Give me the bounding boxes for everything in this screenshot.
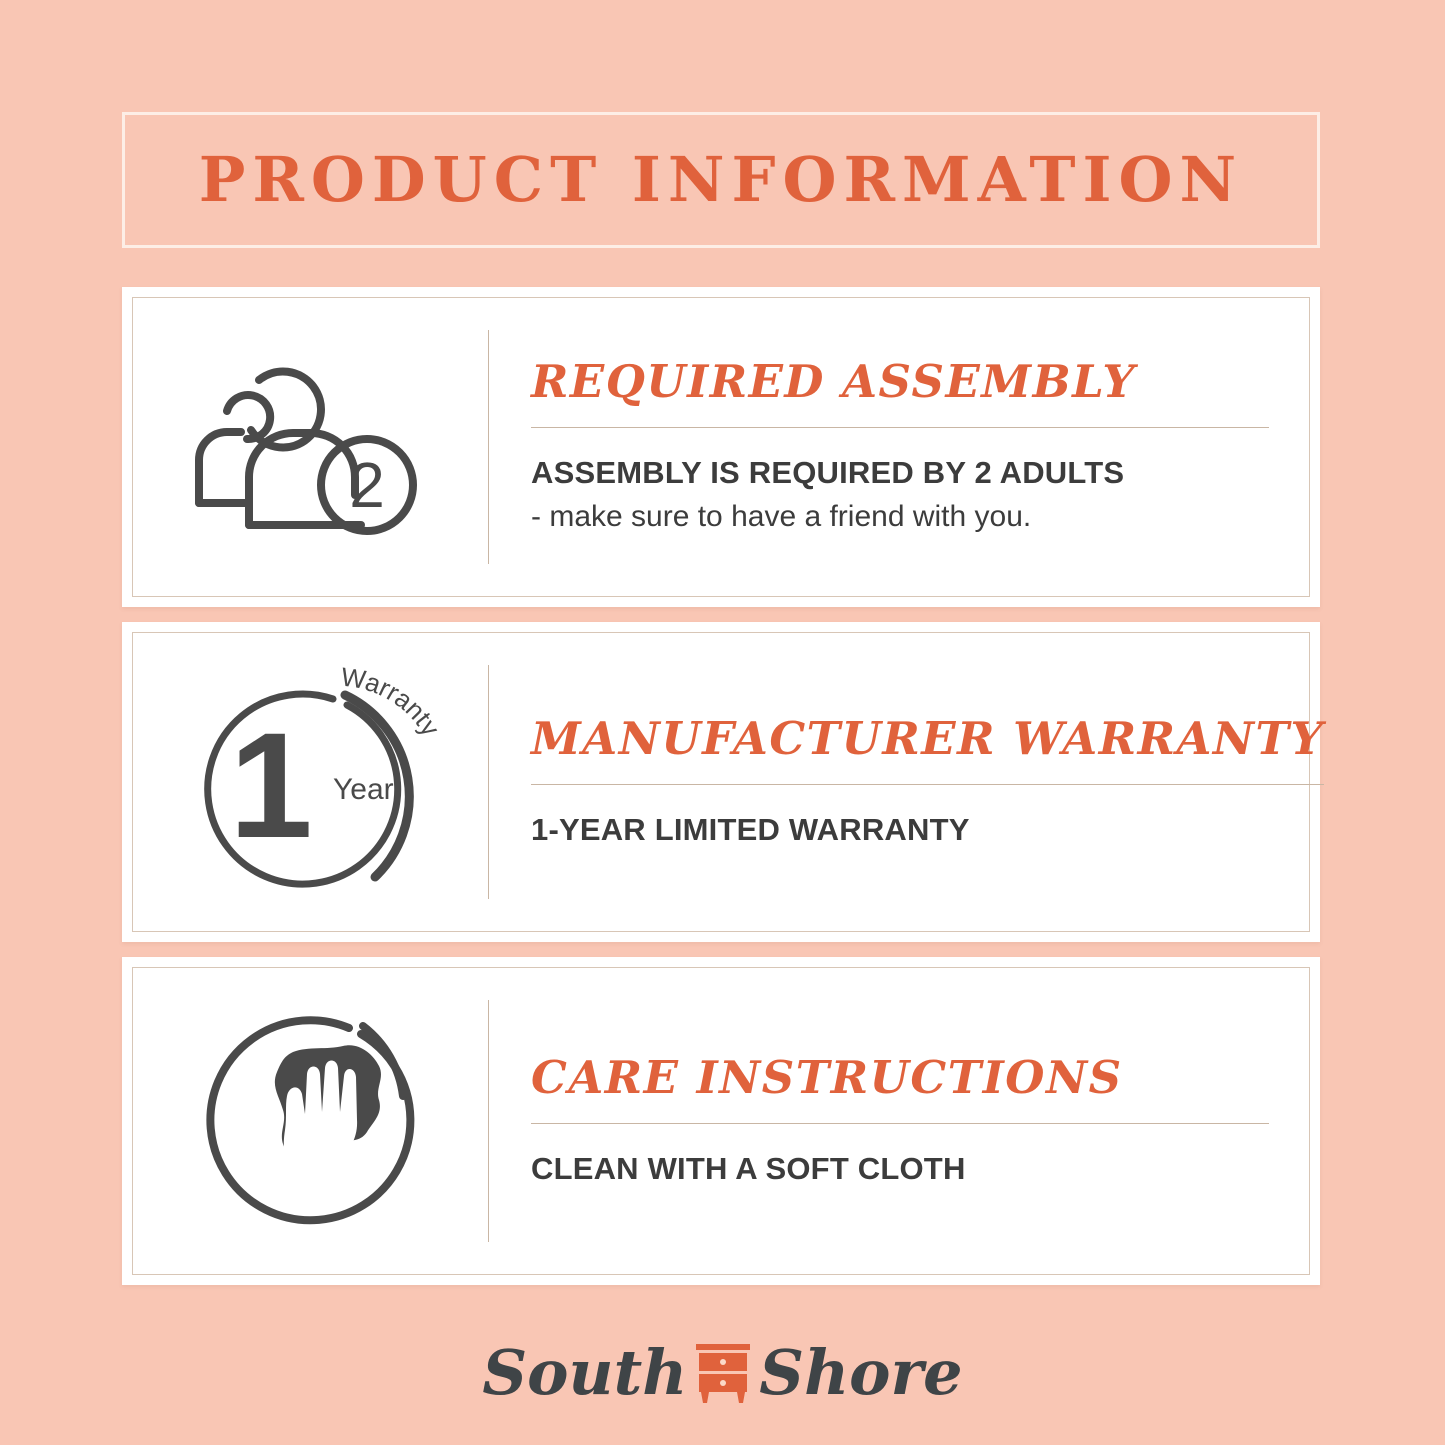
info-card-manufacturer-warranty: 1 Year Warranty MANUFACTURER WARRANTY 1-… [122, 622, 1320, 942]
logo-word-south: South [482, 1342, 687, 1404]
info-card-required-assembly: 2 REQUIRED ASSEMBLY ASSEMBLY IS REQUIRED… [122, 287, 1320, 607]
page-title: PRODUCT INFORMATION [199, 149, 1243, 211]
card-body-main: CLEAN WITH A SOFT CLOTH [531, 1150, 1269, 1189]
card-body-main: 1-YEAR LIMITED WARRANTY [531, 811, 1324, 850]
text-column: CARE INSTRUCTIONS CLEAN WITH A SOFT CLOT… [489, 968, 1309, 1274]
card-heading: REQUIRED ASSEMBLY [531, 358, 1269, 405]
brand-logo: South Shore [0, 1318, 1445, 1428]
two-people-assembly-icon: 2 [191, 345, 431, 550]
card-body-main: ASSEMBLY IS REQUIRED BY 2 ADULTS [531, 454, 1269, 493]
text-column: REQUIRED ASSEMBLY ASSEMBLY IS REQUIRED B… [489, 298, 1309, 596]
icon-column: 1 Year Warranty [133, 633, 488, 931]
card-inner-border: CARE INSTRUCTIONS CLEAN WITH A SOFT CLOT… [132, 967, 1310, 1275]
product-information-infographic: PRODUCT INFORMATION [0, 0, 1445, 1445]
card-body-sub: - make sure to have a friend with you. [531, 497, 1269, 536]
card-inner-border: 1 Year Warranty MANUFACTURER WARRANTY 1-… [132, 632, 1310, 932]
warranty-unit-label: Year [333, 773, 394, 806]
card-inner-border: 2 REQUIRED ASSEMBLY ASSEMBLY IS REQUIRED… [132, 297, 1310, 597]
page-title-box: PRODUCT INFORMATION [122, 112, 1320, 248]
info-card-care-instructions: CARE INSTRUCTIONS CLEAN WITH A SOFT CLOT… [122, 957, 1320, 1285]
one-year-warranty-icon: 1 Year Warranty [173, 665, 448, 900]
heading-rule [531, 1123, 1269, 1124]
assembly-people-count: 2 [349, 449, 385, 521]
card-heading: CARE INSTRUCTIONS [531, 1054, 1269, 1101]
icon-column [133, 968, 488, 1274]
warranty-number: 1 [229, 701, 312, 869]
hand-with-cloth-icon [197, 1010, 425, 1232]
heading-rule [531, 427, 1269, 428]
heading-rule [531, 784, 1324, 785]
icon-column: 2 [133, 298, 488, 596]
card-heading: MANUFACTURER WARRANTY [531, 715, 1324, 762]
nightstand-icon [693, 1342, 753, 1404]
text-column: MANUFACTURER WARRANTY 1-YEAR LIMITED WAR… [489, 633, 1364, 931]
logo-word-shore: Shore [759, 1342, 962, 1404]
